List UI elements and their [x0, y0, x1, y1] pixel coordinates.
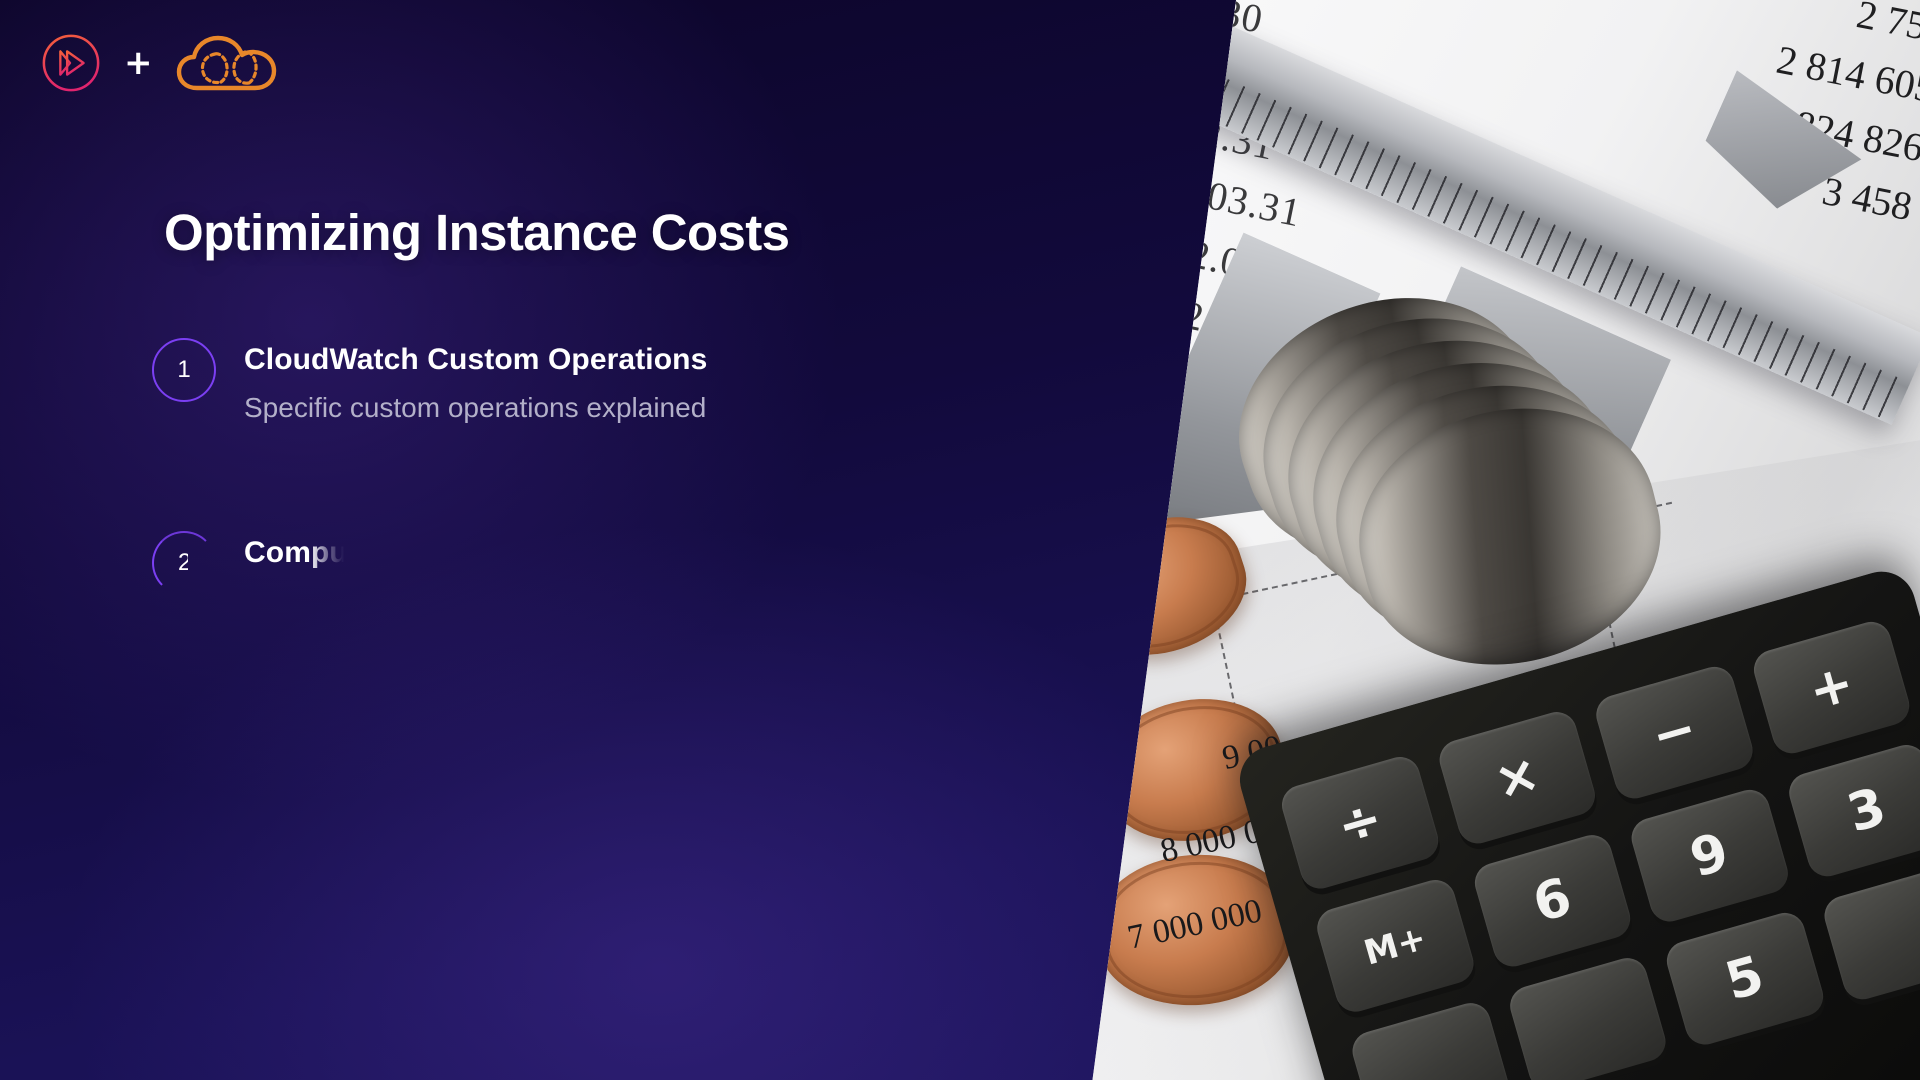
agenda-item-title: CloudWatch Custom Operations — [244, 342, 707, 378]
calculator-key: × — [1434, 707, 1599, 848]
plus-separator: + — [124, 46, 153, 80]
agenda-number-badge: 2 — [152, 531, 216, 595]
agenda-number: 2 — [178, 549, 188, 577]
play-triangle-circle-logo-icon — [40, 32, 102, 94]
cloud-outline-logo-icon — [175, 30, 279, 96]
agenda-item-title: Comput — [244, 535, 358, 571]
hero-photo: .06.30 1.09.30 11.12.31 2012.03.31 2012.… — [1090, 0, 1920, 1080]
calculator-key: 9 — [1627, 785, 1792, 926]
list-item[interactable]: 1 CloudWatch Custom Operations Specific … — [152, 336, 932, 425]
calculator-key — [1819, 863, 1920, 1004]
agenda-list: 1 CloudWatch Custom Operations Specific … — [152, 336, 932, 699]
list-item[interactable]: 2 Comput — [152, 529, 932, 595]
calculator-key — [1505, 953, 1670, 1080]
calculator-key: + — [1749, 617, 1914, 758]
agenda-item-subtitle: Specific custom operations explained — [244, 390, 707, 425]
logo-lockup: + — [40, 30, 279, 96]
calculator-key: M+ — [1313, 875, 1478, 1016]
agenda-number: 1 — [177, 356, 190, 384]
calculator-key: 6 — [1470, 830, 1635, 971]
presentation-slide: .06.30 1.09.30 11.12.31 2012.03.31 2012.… — [0, 0, 1920, 1080]
calculator-key — [1348, 998, 1513, 1080]
calculator-key: 5 — [1662, 908, 1827, 1049]
calculator-key: 3 — [1784, 740, 1920, 881]
calculator-key: ÷ — [1277, 752, 1442, 893]
calculator-key: − — [1592, 662, 1757, 803]
agenda-number-badge: 1 — [152, 338, 216, 402]
page-title: Optimizing Instance Costs — [164, 203, 789, 262]
